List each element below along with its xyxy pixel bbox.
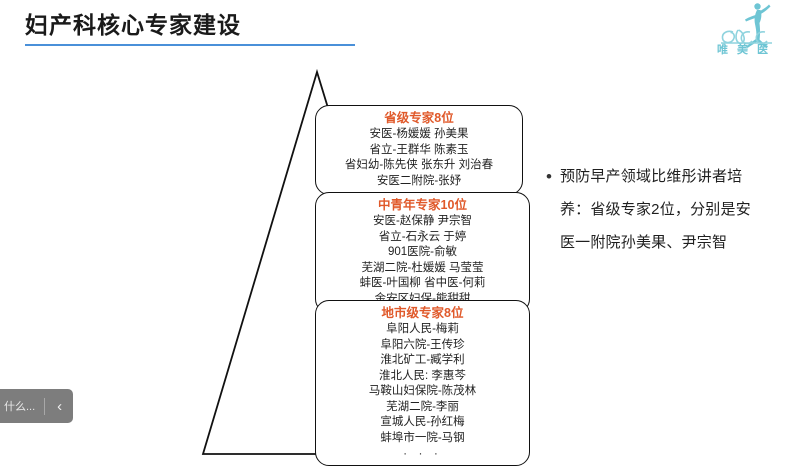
page-title: 妇产科核心专家建设 [25, 10, 445, 40]
node-title: 地市级专家8位 [324, 305, 521, 322]
player-title-label: 什么... [4, 398, 35, 414]
slide-canvas: 妇产科核心专家建设 唯 美 医 [0, 0, 792, 466]
pyramid-node-province[interactable]: 省级专家8位 安医-杨媛媛 孙美果 省立-王群华 陈素玉 省妇幼-陈先侠 张东升… [315, 105, 523, 195]
node-line: 安医-杨媛媛 孙美果 [324, 127, 514, 143]
pyramid-node-city[interactable]: 地市级专家8位 阜阳人民-梅莉 阜阳六院-王传珍 淮北矿工-臧学利 淮北人民: … [315, 300, 530, 466]
node-line: 淮北矿工-臧学利 [324, 353, 521, 369]
node-line: 阜阳六院-王传珍 [324, 338, 521, 354]
node-line: 安医-赵保静 尹宗智 [324, 214, 521, 230]
node-line: 宣城人民-孙红梅 [324, 415, 521, 431]
logo-wordmark: 唯 美 医 [702, 41, 786, 57]
node-line: 阜阳人民-梅莉 [324, 322, 521, 338]
node-line: 淮北人民: 李惠芩 [324, 369, 521, 385]
node-line: 芜湖二院-杜媛媛 马莹莹 [324, 261, 521, 277]
note-text: 预防早产领域比维彤讲者培养：省级专家2位，分别是安医一附院孙美果、尹宗智 [560, 160, 762, 259]
node-line: 蚌埠市一院-马钢 [324, 431, 521, 447]
player-control-bar[interactable]: 什么... ‹ [0, 389, 73, 423]
pyramid-node-mid-young[interactable]: 中青年专家10位 安医-赵保静 尹宗智 省立-石永云 于婷 901医院-俞敏 芜… [315, 192, 530, 313]
node-title: 中青年专家10位 [324, 197, 521, 214]
chevron-left-icon[interactable]: ‹ [54, 399, 65, 414]
title-block: 妇产科核心专家建设 [25, 10, 445, 46]
bullet-marker-icon: • [546, 160, 552, 193]
node-line: 省立-王群华 陈素玉 [324, 143, 514, 159]
bullet-list-item: • 预防早产领域比维彤讲者培养：省级专家2位，分别是安医一附院孙美果、尹宗智 [546, 160, 762, 259]
divider [44, 398, 45, 415]
node-line: 省立-石永云 于婷 [324, 230, 521, 246]
node-line: 省妇幼-陈先侠 张东升 刘治春 [324, 158, 514, 174]
node-line: 901医院-俞敏 [324, 245, 521, 261]
title-underline-rule [25, 44, 355, 46]
node-line: 芜湖二院-李丽 [324, 400, 521, 416]
brand-logo: 唯 美 医 [702, 2, 786, 56]
node-line: 安医二附院-张妤 [324, 174, 514, 190]
node-ellipsis: · · · [324, 446, 521, 460]
node-line: 蚌医-叶国柳 省中医-何莉 [324, 276, 521, 292]
node-line: 马鞍山妇保院-陈茂林 [324, 384, 521, 400]
notes-block: • 预防早产领域比维彤讲者培养：省级专家2位，分别是安医一附院孙美果、尹宗智 [546, 160, 762, 259]
node-title: 省级专家8位 [324, 110, 514, 127]
